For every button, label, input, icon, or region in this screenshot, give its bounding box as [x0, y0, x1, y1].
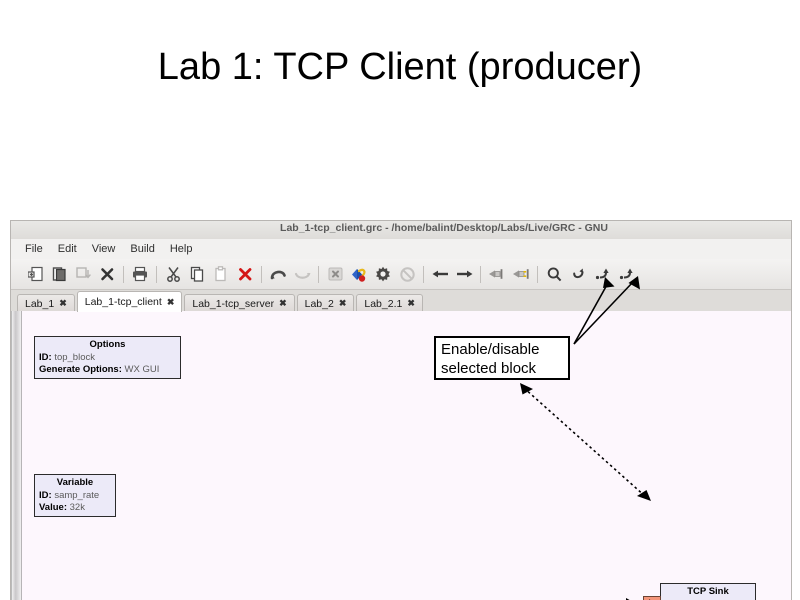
port-tcp-sink-in[interactable]: in: [643, 596, 661, 600]
block-param-key: ID:: [39, 490, 52, 501]
enable-block-icon[interactable]: [509, 261, 533, 287]
block-param-row: Value: 32k: [39, 502, 111, 514]
tab-lab-2-1[interactable]: Lab_2.1 ✖: [356, 294, 423, 312]
block-tcp-sink[interactable]: TCP Sink Address: 127.0.0.1 Port: 12.345…: [660, 583, 756, 600]
toolbar-separator: [419, 264, 428, 284]
tab-lab-2[interactable]: Lab_2 ✖: [297, 294, 355, 312]
menu-build[interactable]: Build: [130, 243, 154, 255]
undo-icon[interactable]: [266, 261, 290, 287]
tab-close-icon[interactable]: ✖: [407, 298, 415, 309]
block-param-row: Generate Options: WX GUI: [39, 364, 176, 376]
find-block-icon[interactable]: [542, 261, 566, 287]
tab-close-icon[interactable]: ✖: [279, 298, 287, 309]
tab-label: Lab_2: [305, 298, 334, 310]
tab-close-icon[interactable]: ✖: [339, 298, 347, 309]
execute-flowgraph-icon[interactable]: [347, 261, 371, 287]
more-icon-1[interactable]: [590, 261, 614, 287]
rotate-right-icon[interactable]: [452, 261, 476, 287]
block-param-row: ID: samp_rate: [39, 490, 111, 502]
tab-label: Lab_2.1: [364, 298, 402, 310]
tab-lab-1-tcp-server[interactable]: Lab_1-tcp_server ✖: [184, 294, 294, 312]
reload-blocks-icon[interactable]: [566, 261, 590, 287]
window-title: Lab_1-tcp_client.grc - /home/balint/Desk…: [11, 222, 791, 234]
print-icon[interactable]: [128, 261, 152, 287]
stop-flowgraph-icon[interactable]: [323, 261, 347, 287]
close-flowgraph-icon[interactable]: [95, 261, 119, 287]
block-param-value: top_block: [54, 352, 95, 363]
block-title: TCP Sink: [665, 586, 751, 598]
more-icon-2[interactable]: [614, 261, 638, 287]
tab-label: Lab_1: [25, 298, 54, 310]
tab-label: Lab_1-tcp_client: [85, 296, 162, 308]
block-title: Variable: [39, 477, 111, 489]
toolbar-separator: [119, 264, 128, 284]
block-variable[interactable]: Variable ID: samp_rate Value: 32k: [34, 474, 116, 517]
menubar: File Edit View Build Help: [11, 239, 791, 259]
toolbar: [11, 259, 791, 290]
tab-close-icon[interactable]: ✖: [167, 297, 175, 308]
window-titlebar: Lab_1-tcp_client.grc - /home/balint/Desk…: [11, 221, 791, 239]
toolbar-separator: [257, 264, 266, 284]
block-param-row: ID: top_block: [39, 352, 176, 364]
tab-lab-1[interactable]: Lab_1 ✖: [17, 294, 75, 312]
grc-application-window: Lab_1-tcp_client.grc - /home/balint/Desk…: [10, 220, 792, 600]
block-options[interactable]: Options ID: top_block Generate Options: …: [34, 336, 181, 379]
new-flowgraph-icon[interactable]: [23, 261, 47, 287]
menu-edit[interactable]: Edit: [58, 243, 77, 255]
tab-label: Lab_1-tcp_server: [192, 298, 274, 310]
page-title: Lab 1: TCP Client (producer): [0, 46, 800, 89]
menu-help[interactable]: Help: [170, 243, 193, 255]
toolbar-separator: [152, 264, 161, 284]
toolbar-separator: [476, 264, 485, 284]
toolbar-separator: [533, 264, 542, 284]
block-param-value: WX GUI: [125, 364, 160, 375]
flowgraph-canvas[interactable]: Options ID: top_block Generate Options: …: [11, 311, 791, 600]
save-flowgraph-icon[interactable]: [71, 261, 95, 287]
block-param-key: ID:: [39, 352, 52, 363]
block-param-value: 32k: [70, 502, 85, 513]
flowgraph-tabstrip: Lab_1 ✖ Lab_1-tcp_client ✖ Lab_1-tcp_ser…: [11, 290, 791, 313]
callout-line-2: selected block: [441, 359, 563, 378]
annotation-callout: Enable/disable selected block: [434, 336, 570, 380]
generate-flowgraph-icon[interactable]: [371, 261, 395, 287]
disable-block-icon[interactable]: [485, 261, 509, 287]
open-flowgraph-icon[interactable]: [47, 261, 71, 287]
rotate-left-icon[interactable]: [428, 261, 452, 287]
cut-icon[interactable]: [161, 261, 185, 287]
tab-lab-1-tcp-client[interactable]: Lab_1-tcp_client ✖: [77, 291, 183, 312]
block-param-key: Value:: [39, 502, 67, 513]
canvas-scrollbar[interactable]: [12, 311, 22, 600]
paste-icon[interactable]: [209, 261, 233, 287]
block-title: Options: [39, 339, 176, 351]
redo-icon[interactable]: [290, 261, 314, 287]
delete-icon[interactable]: [233, 261, 257, 287]
copy-icon[interactable]: [185, 261, 209, 287]
block-param-key: Generate Options:: [39, 364, 122, 375]
callout-line-1: Enable/disable: [441, 340, 563, 359]
toolbar-separator: [314, 264, 323, 284]
tab-close-icon[interactable]: ✖: [59, 298, 67, 309]
menu-file[interactable]: File: [25, 243, 43, 255]
block-param-value: samp_rate: [54, 490, 99, 501]
menu-view[interactable]: View: [92, 243, 116, 255]
kill-flowgraph-icon[interactable]: [395, 261, 419, 287]
